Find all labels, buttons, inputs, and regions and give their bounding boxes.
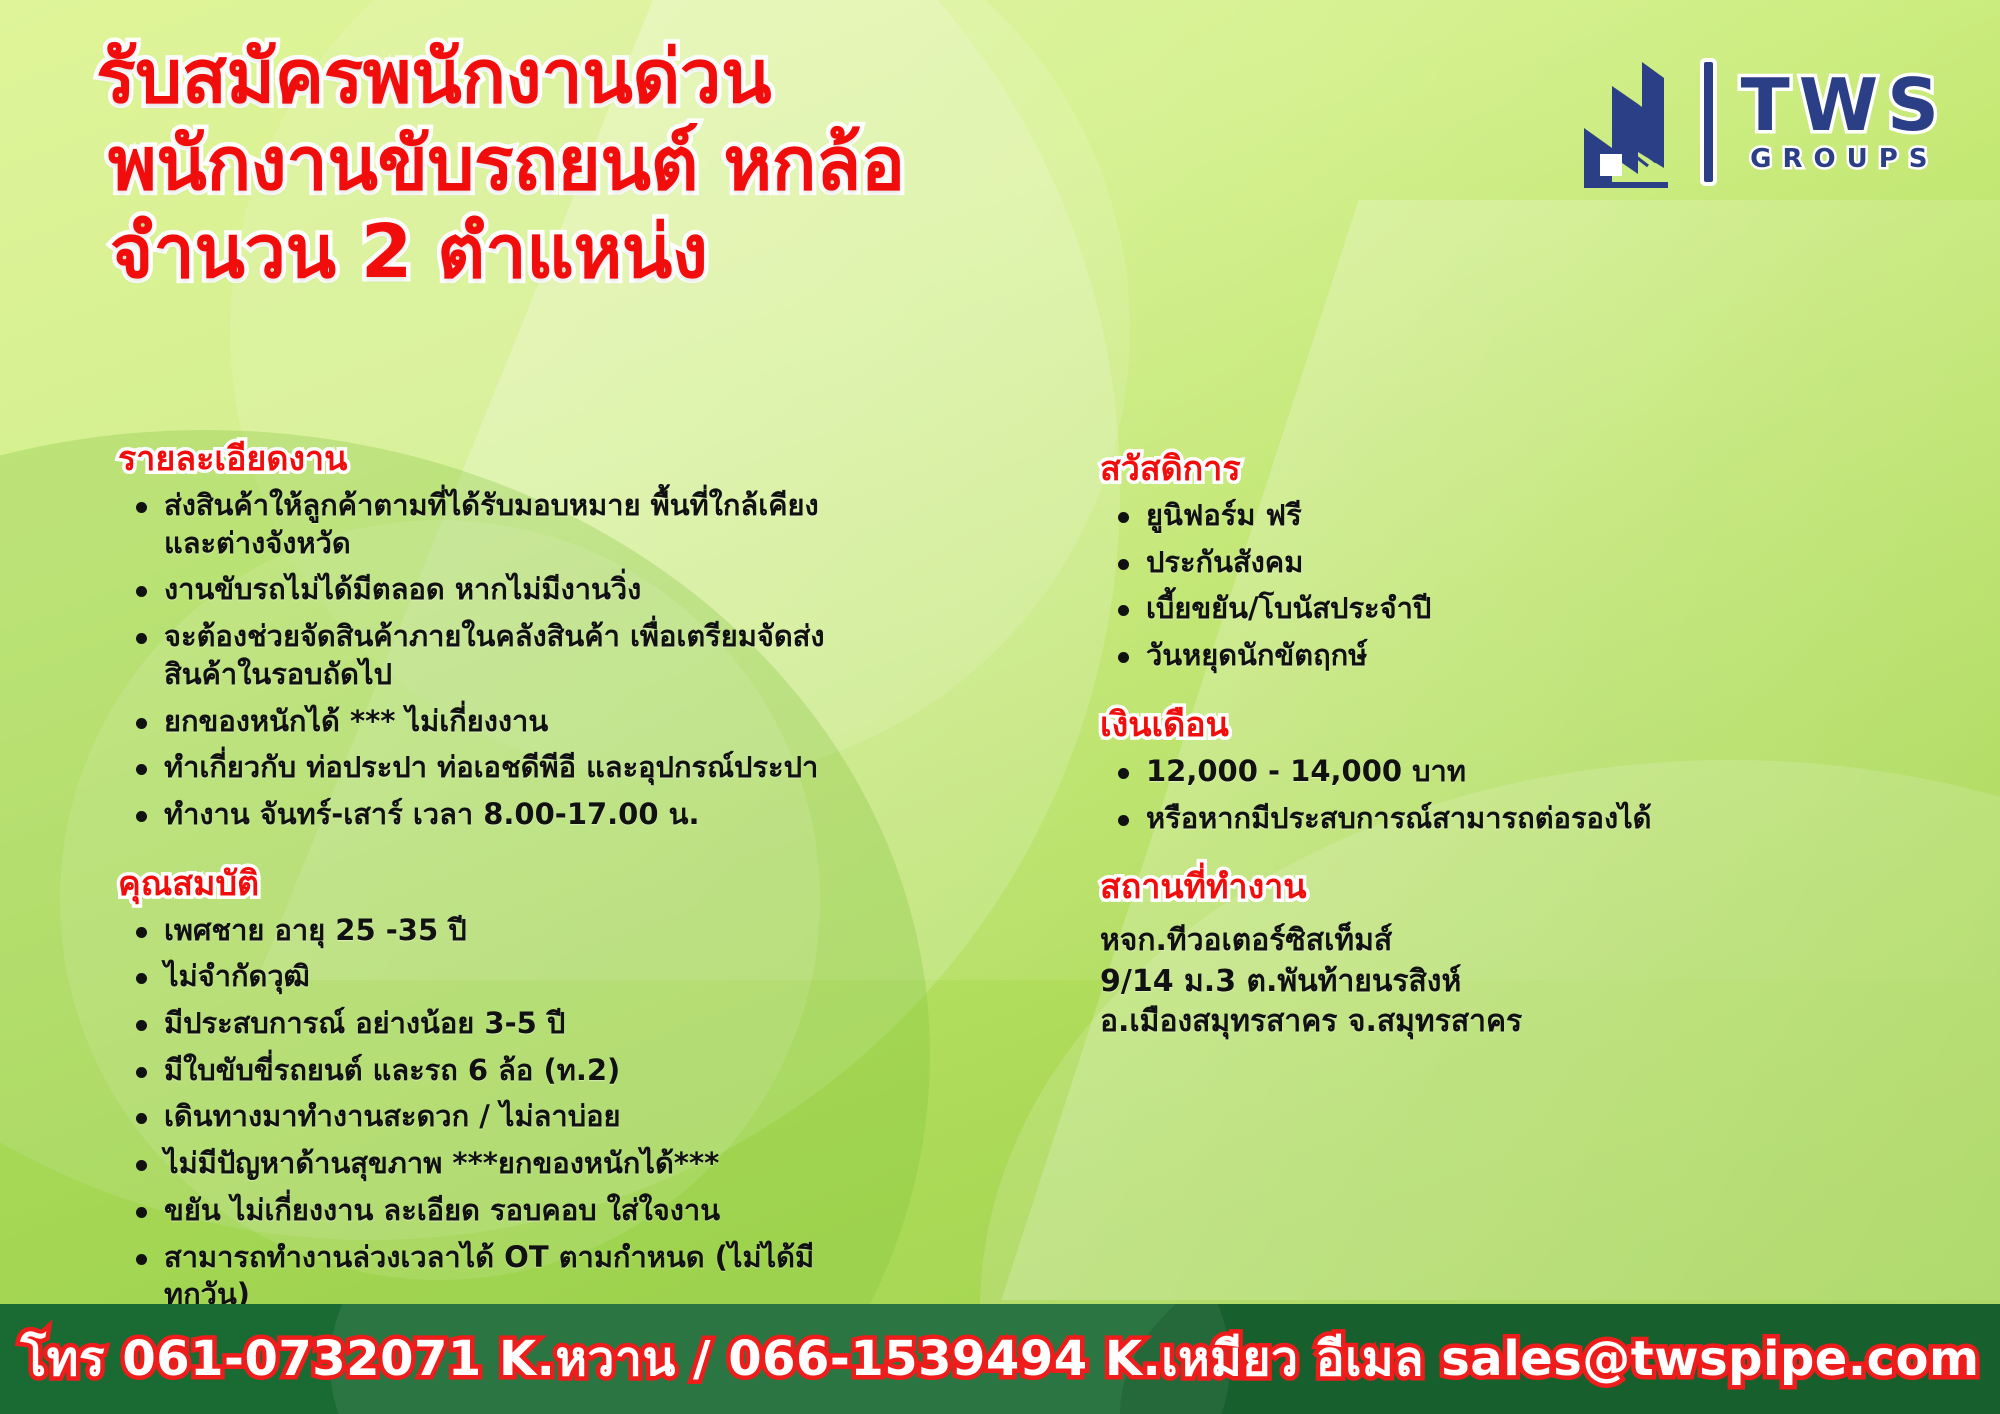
salary-heading: เงินเดือน: [1100, 706, 1229, 745]
list-item: สามารถทำงานล่วงเวลาได้ OT ตามกำหนด (ไม่ไ…: [164, 1239, 838, 1314]
right-column: สวัสดิการ ยูนิฟอร์ม ฟรี ประกันสังคม เบี้…: [1100, 450, 1860, 1042]
address-line: หจก.ทีวอเตอร์ซิสเท็มส์: [1100, 921, 1860, 961]
list-item: ยูนิฟอร์ม ฟรี: [1146, 497, 1860, 535]
list-item: ขยัน ไม่เกี่ยงงาน ละเอียด รอบคอบ ใส่ใจงา…: [164, 1192, 838, 1230]
contact-text[interactable]: โทร 061-0732071 K.หวาน / 066-1539494 K.เ…: [20, 1321, 1979, 1397]
address-line: อ.เมืองสมุทรสาคร จ.สมุทรสาคร: [1100, 1002, 1860, 1042]
headline-line-2: พนักงานขับรถยนต์ หกล้อ: [96, 127, 1186, 202]
benefits-heading: สวัสดิการ: [1100, 450, 1241, 489]
qualifications-list: เพศชาย อายุ 25 -35 ปี ไม่จำกัดวุฒิ มีประ…: [118, 912, 838, 1314]
list-item: ไม่มีปัญหาด้านสุขภาพ ***ยกของหนักได้***: [164, 1145, 838, 1183]
list-item: เบี้ยขยัน/โบนัสประจำปี: [1146, 590, 1860, 628]
headline-line-1: รับสมัครพนักงานด่วน: [96, 40, 1186, 115]
list-item: จะต้องช่วยจัดสินค้าภายในคลังสินค้า เพื่อ…: [164, 618, 838, 693]
left-column: รายละเอียดงาน ส่งสินค้าให้ลูกค้าตามที่ได…: [118, 440, 838, 1323]
workplace-heading: สถานที่ทำงาน: [1100, 868, 1307, 907]
contact-footer-bar: โทร 061-0732071 K.หวาน / 066-1539494 K.เ…: [0, 1304, 2000, 1414]
poster-headline: รับสมัครพนักงานด่วน พนักงานขับรถยนต์ หกล…: [96, 40, 1186, 302]
list-item: ทำเกี่ยวกับ ท่อประปา ท่อเอชดีพีอี และอุป…: [164, 749, 838, 787]
list-item: เพศชาย อายุ 25 -35 ปี: [164, 912, 838, 950]
list-item: วันหยุดนักขัตฤกษ์: [1146, 637, 1860, 675]
headline-line-3: จำนวน 2 ตำแหน่ง: [96, 215, 1186, 290]
salary-list: 12,000 - 14,000 บาท หรือหากมีประสบการณ์ส…: [1100, 753, 1860, 837]
company-logo: TWS GROUPS: [1572, 56, 1948, 188]
list-item: งานขับรถไม่ได้มีตลอด หากไม่มีงานวิ่ง: [164, 571, 838, 609]
list-item: ไม่จำกัดวุฒิ: [164, 958, 838, 996]
logo-name: TWS: [1741, 70, 1948, 141]
benefits-list: ยูนิฟอร์ม ฟรี ประกันสังคม เบี้ยขยัน/โบนั…: [1100, 497, 1860, 675]
list-item: ส่งสินค้าให้ลูกค้าตามที่ได้รับมอบหมาย พื…: [164, 487, 838, 562]
job-details-heading: รายละเอียดงาน: [118, 440, 347, 479]
list-item: เดินทางมาทำงานสะดวก / ไม่ลาบ่อย: [164, 1098, 838, 1136]
logo-subtitle: GROUPS: [1750, 144, 1938, 174]
tws-building-mark-icon: [1572, 56, 1688, 188]
list-item: ทำงาน จันทร์-เสาร์ เวลา 8.00-17.00 น.: [164, 796, 838, 834]
logo-divider: [1704, 62, 1713, 182]
list-item: มีประสบการณ์ อย่างน้อย 3-5 ปี: [164, 1005, 838, 1043]
list-item: 12,000 - 14,000 บาท: [1146, 753, 1860, 791]
address-line: 9/14 ม.3 ต.พันท้ายนรสิงห์: [1100, 962, 1860, 1002]
list-item: หรือหากมีประสบการณ์สามารถต่อรองได้: [1146, 800, 1860, 838]
recruitment-poster: รับสมัครพนักงานด่วน พนักงานขับรถยนต์ หกล…: [0, 0, 2000, 1414]
job-details-list: ส่งสินค้าให้ลูกค้าตามที่ได้รับมอบหมาย พื…: [118, 487, 838, 834]
logo-wordmark: TWS GROUPS: [1741, 70, 1948, 175]
list-item: ประกันสังคม: [1146, 544, 1860, 582]
list-item: ยกของหนักได้ *** ไม่เกี่ยงงาน: [164, 703, 838, 741]
qualifications-heading: คุณสมบัติ: [118, 865, 259, 904]
workplace-address: หจก.ทีวอเตอร์ซิสเท็มส์ 9/14 ม.3 ต.พันท้า…: [1100, 921, 1860, 1042]
list-item: มีใบขับขี่รถยนต์ และรถ 6 ล้อ (ท.2): [164, 1052, 838, 1090]
